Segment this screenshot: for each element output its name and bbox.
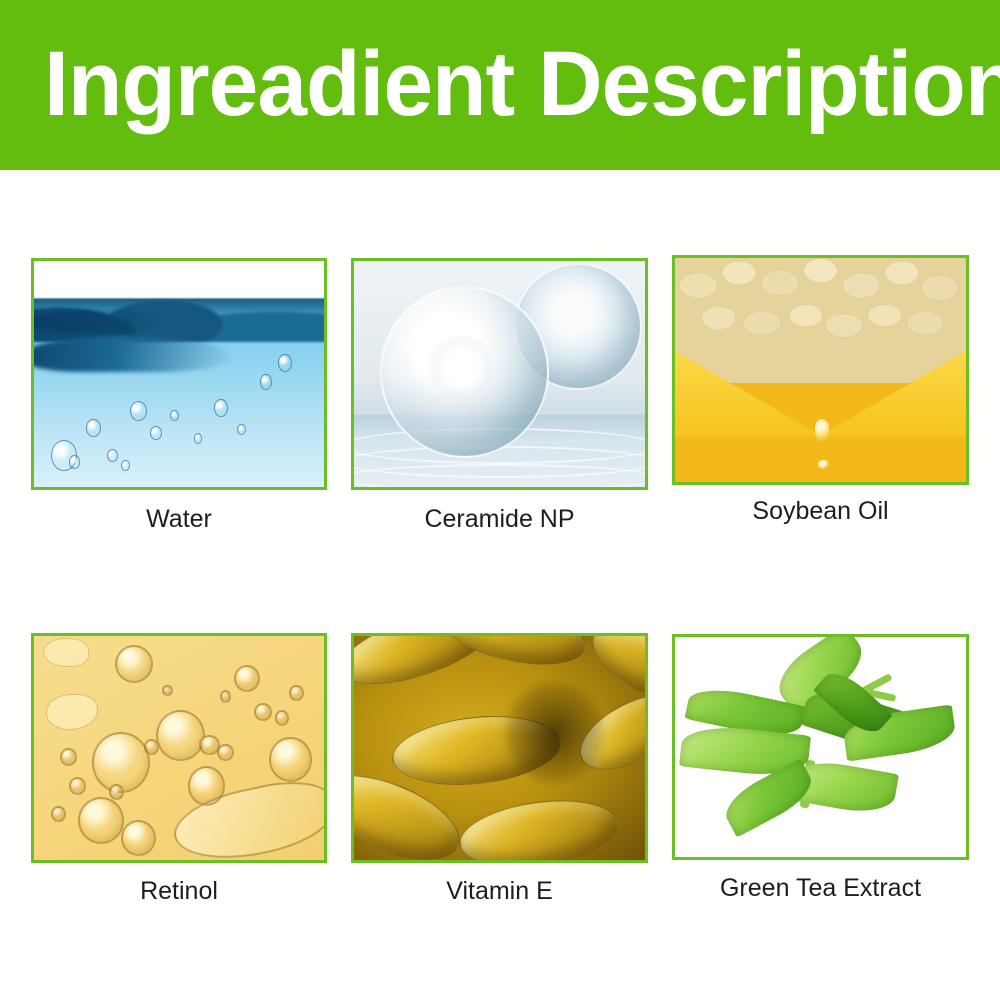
ingredient-card-ceramide-np[interactable]: Ceramide NP [351, 258, 648, 438]
ingredient-card-soybean-oil[interactable]: Soybean Oil [672, 255, 969, 435]
ingredient-card-water[interactable]: Water [31, 258, 327, 438]
soybeans-oil-art [675, 258, 966, 482]
ingredient-image-green-tea-extract [672, 634, 969, 860]
ingredient-image-retinol [31, 633, 327, 863]
water-splash-art [34, 261, 324, 487]
page-title: Ingreadient Description [44, 32, 932, 137]
green-tea-leaves-art [675, 637, 966, 857]
ingredient-label-ceramide-np: Ceramide NP [351, 504, 648, 534]
ceramide-spheres-art [354, 261, 645, 487]
ingredient-label-vitamin-e: Vitamin E [351, 876, 648, 906]
ingredient-label-green-tea-extract: Green Tea Extract [672, 873, 969, 903]
ingredient-image-water [31, 258, 327, 490]
ingredient-label-soybean-oil: Soybean Oil [672, 496, 969, 526]
ingredient-image-ceramide-np [351, 258, 648, 490]
ingredient-label-retinol: Retinol [31, 876, 327, 906]
ingredient-image-soybean-oil [672, 255, 969, 485]
ingredient-label-water: Water [31, 504, 327, 534]
vitamin-e-capsules-art [354, 636, 645, 860]
ingredient-grid: Water Ceramide NP Soybean Oil [0, 170, 1000, 1000]
page-header: Ingreadient Description [0, 0, 1000, 170]
retinol-oil-art [34, 636, 324, 860]
ingredient-card-vitamin-e[interactable]: Vitamin E [351, 633, 648, 813]
ingredient-image-vitamin-e [351, 633, 648, 863]
ingredient-card-green-tea-extract[interactable]: Green Tea Extract [672, 634, 969, 814]
ingredient-card-retinol[interactable]: Retinol [31, 633, 327, 813]
